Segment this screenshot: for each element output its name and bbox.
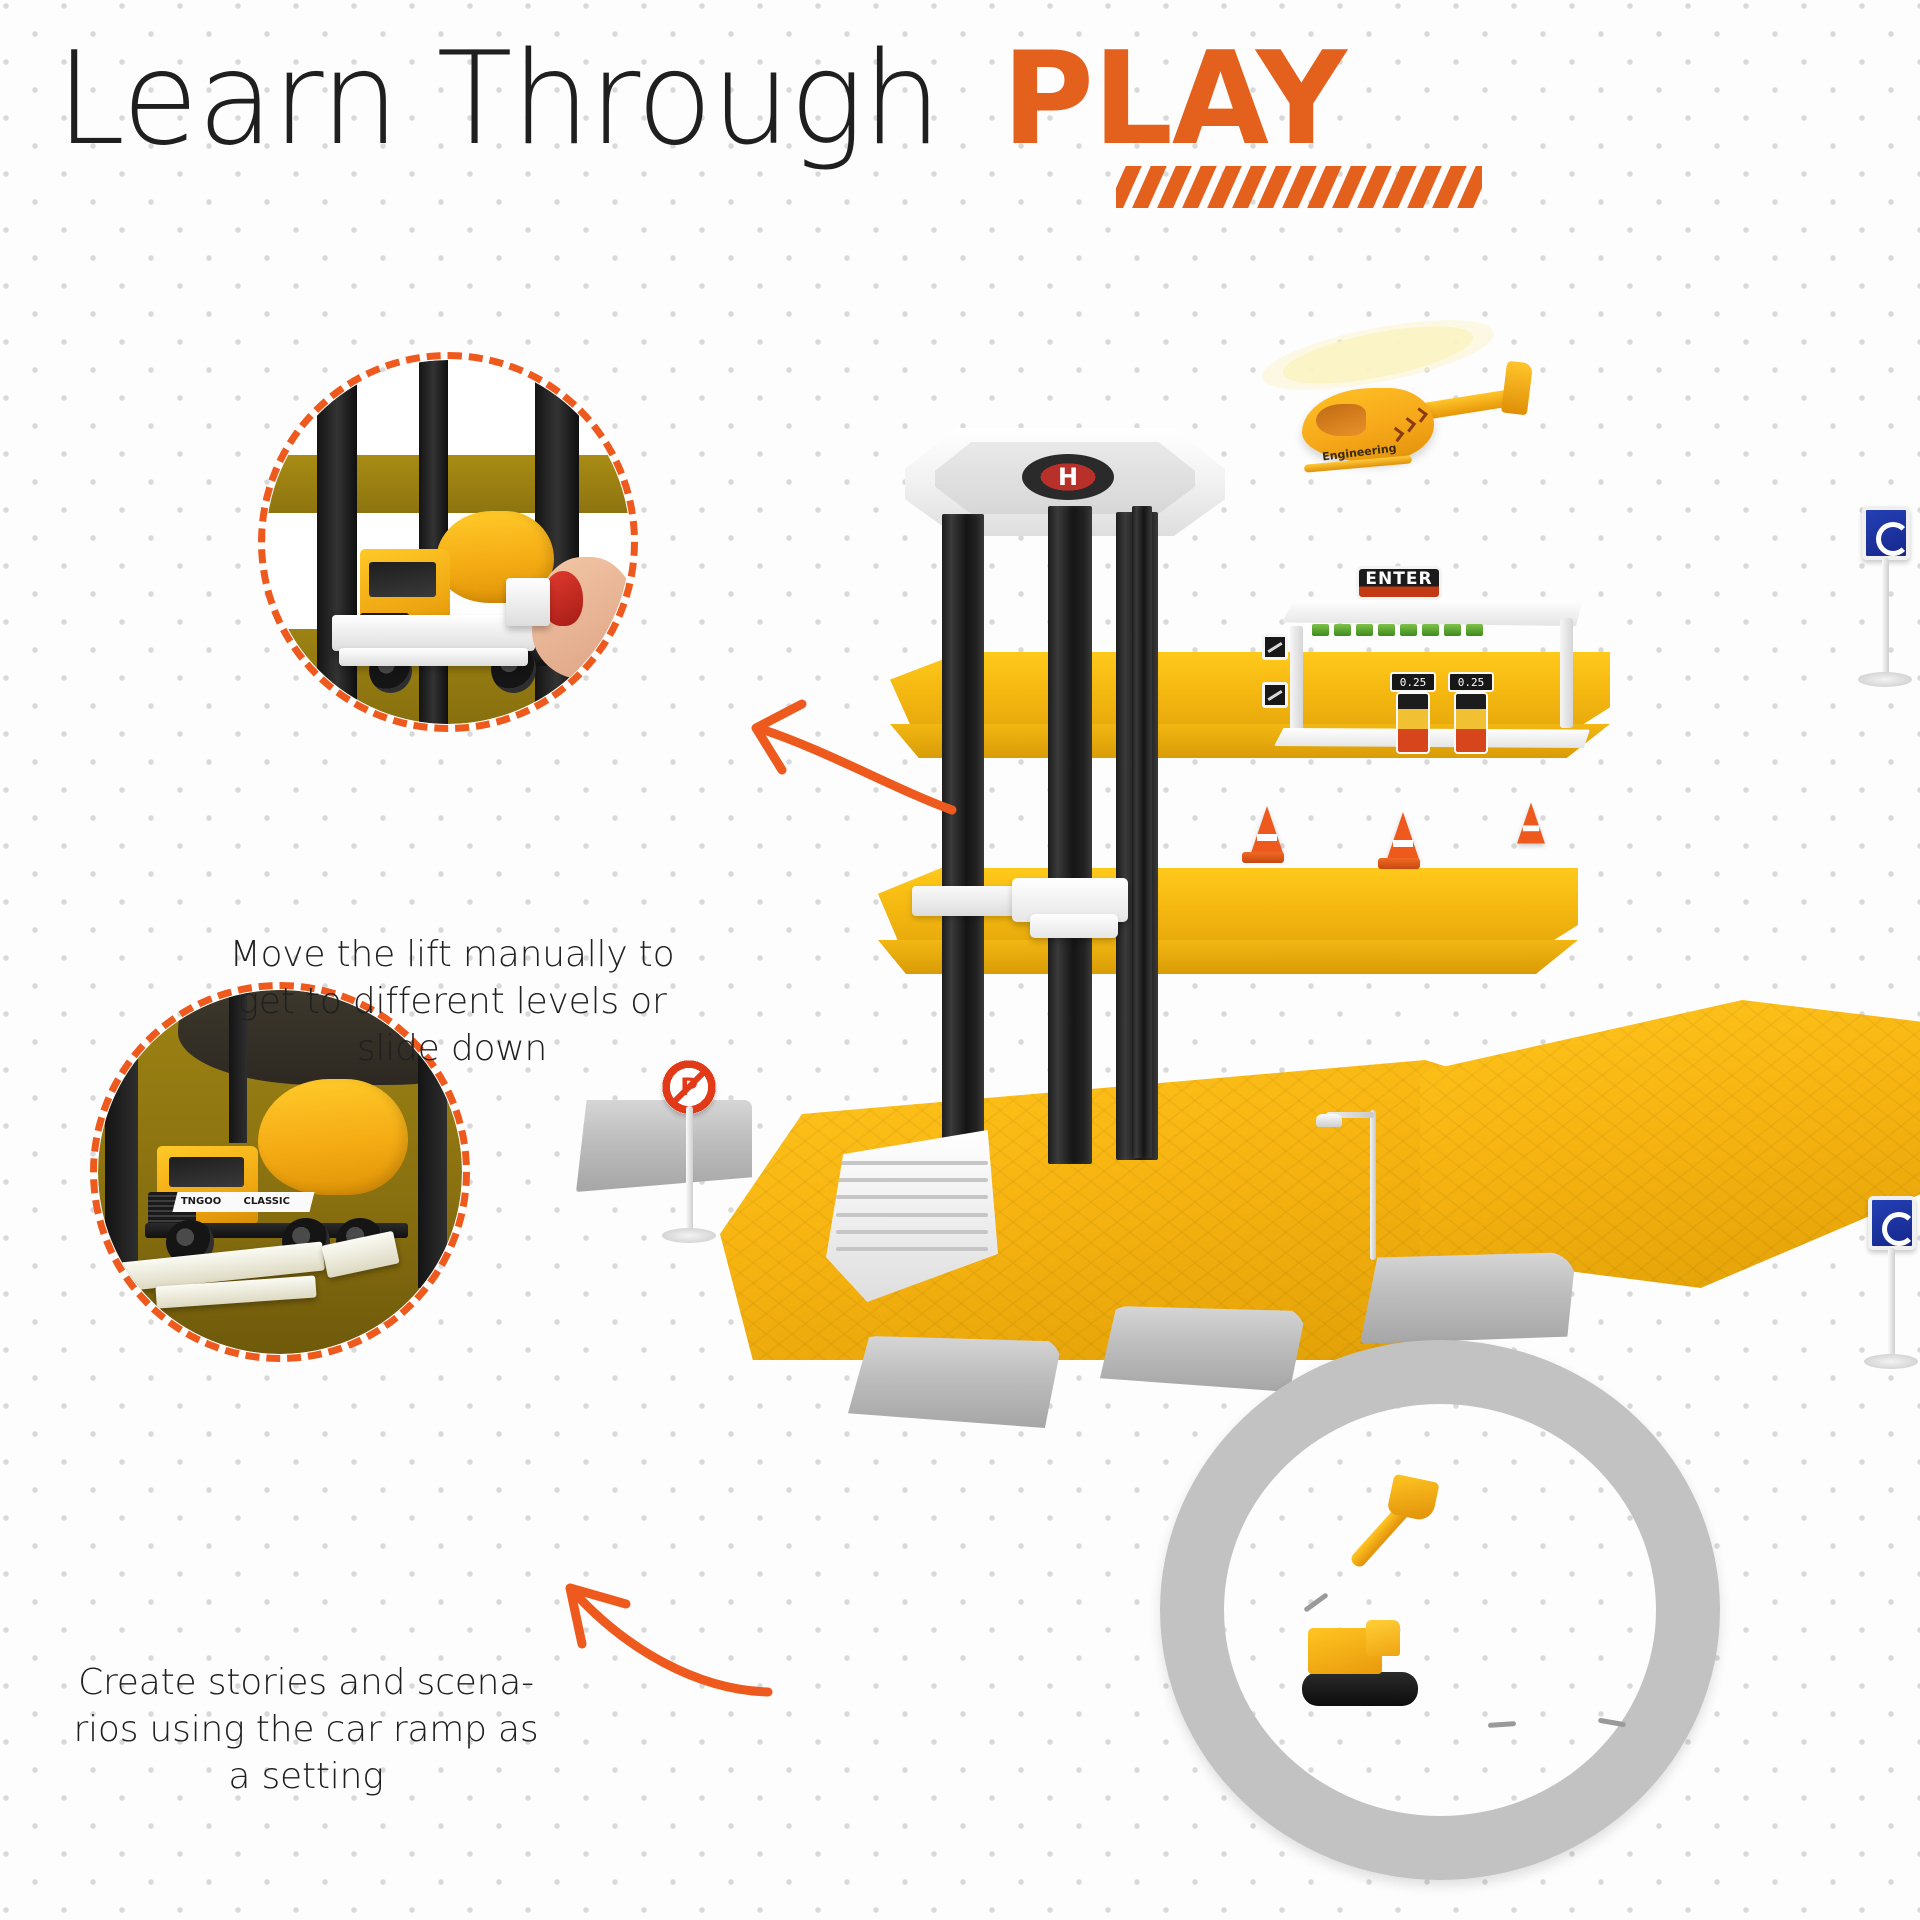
traffic-cone-1: [1250, 806, 1284, 856]
gas-station-column-left: [1290, 626, 1303, 738]
traffic-cone-2: [1386, 812, 1420, 862]
roundabout-sign-lower-base: [1864, 1354, 1918, 1369]
truck-door-label: TNGOO: [181, 1197, 221, 1207]
caption-line: slide down: [206, 1026, 698, 1073]
pump-price-left-value: 0.25: [1400, 676, 1427, 689]
pump-price-display-right: 0.25: [1448, 672, 1494, 692]
fuel-pump-left: [1396, 692, 1430, 754]
gas-station-sign-text: ENTER: [1365, 571, 1432, 588]
no-parking-sign-base: [662, 1228, 716, 1243]
street-lamp-pole: [1370, 1110, 1376, 1260]
lift-carriage-handle[interactable]: [1030, 914, 1118, 938]
excavator-track: [1302, 1672, 1418, 1706]
truck-mixer-drum: [258, 1079, 407, 1195]
headline-bold-text: PLAY: [1002, 36, 1346, 164]
truck-windshield: [369, 562, 437, 597]
no-smoking-sign-lower: [1262, 682, 1288, 708]
traffic-cone-2-base: [1378, 858, 1420, 869]
roundabout-sign-upper-post: [1882, 558, 1889, 676]
ramp-curb-left: [576, 1100, 752, 1192]
pump-price-display-left: 0.25: [1390, 672, 1436, 692]
lift-tray: [912, 886, 1028, 916]
pillar-4: [1132, 506, 1152, 1158]
excavator-cab: [1366, 1620, 1400, 1656]
road-curve-track: [1160, 1340, 1720, 1880]
no-smoking-sign-upper: [1262, 634, 1288, 660]
callout-lift-scene: TNGOO CLASSIC: [266, 360, 630, 724]
pump-price-right-value: 0.25: [1458, 676, 1485, 689]
street-lamp-head: [1316, 1114, 1342, 1127]
callout-lift-tray-edge: [339, 648, 528, 666]
no-parking-sign-post: [686, 1106, 693, 1236]
caption-line: a setting: [60, 1754, 552, 1801]
callout-lift-knob: [506, 578, 550, 625]
roundabout-sign-lower: [1868, 1196, 1916, 1250]
truck-side-label: CLASSIC: [244, 1197, 290, 1207]
callout-lift-caption: Move the lift manually to get to differe…: [206, 932, 698, 1072]
helipad-h-marking: H: [1022, 454, 1114, 500]
hazard-stripes-decoration: [1116, 166, 1482, 208]
caption-line: Move the lift manually to: [206, 932, 698, 979]
no-parking-letter: P: [680, 1075, 698, 1099]
roundabout-sign-lower-post: [1888, 1248, 1895, 1358]
ramp-curb-bottom-1: [848, 1336, 1062, 1428]
gas-station-floor: [1274, 728, 1590, 748]
arrow-to-lift-callout: [630, 600, 960, 860]
headline-light-text: Learn Through: [56, 36, 941, 164]
pillar-2: [1048, 506, 1092, 1164]
helicopter-cockpit-window: [1316, 404, 1366, 436]
ramp-curb-bottom-2: [1100, 1306, 1306, 1392]
fuel-pump-right: [1454, 692, 1488, 754]
callout-lift-tray: [332, 615, 536, 651]
traffic-cone-3: [1517, 803, 1545, 844]
marketing-image-canvas: Learn Through PLAY H: [0, 0, 1920, 1920]
roundabout-sign-upper-base: [1858, 672, 1912, 687]
caption-line: Create stories and scena-: [60, 1660, 552, 1707]
callout-ramp-caption: Create stories and scena- rios using the…: [60, 1660, 552, 1800]
traffic-cone-1-base: [1242, 852, 1284, 863]
helipad-h-letter: H: [1058, 465, 1078, 489]
helicopter-tail-fin: [1501, 361, 1533, 416]
gas-station-enter-sign: ENTER: [1356, 566, 1442, 600]
gas-station-column-right: [1560, 618, 1573, 728]
roundabout-sign-upper: [1862, 506, 1910, 560]
truck-windshield: [169, 1157, 244, 1188]
gas-station-canopy-lights: [1312, 624, 1483, 636]
ramp-curb-right: [1360, 1252, 1576, 1344]
caption-line: rios using the car ramp as: [60, 1707, 552, 1754]
caption-line: get to different levels or: [206, 979, 698, 1026]
callout-lift-photo: TNGOO CLASSIC: [266, 360, 630, 724]
gas-station-canopy: [1282, 600, 1582, 626]
